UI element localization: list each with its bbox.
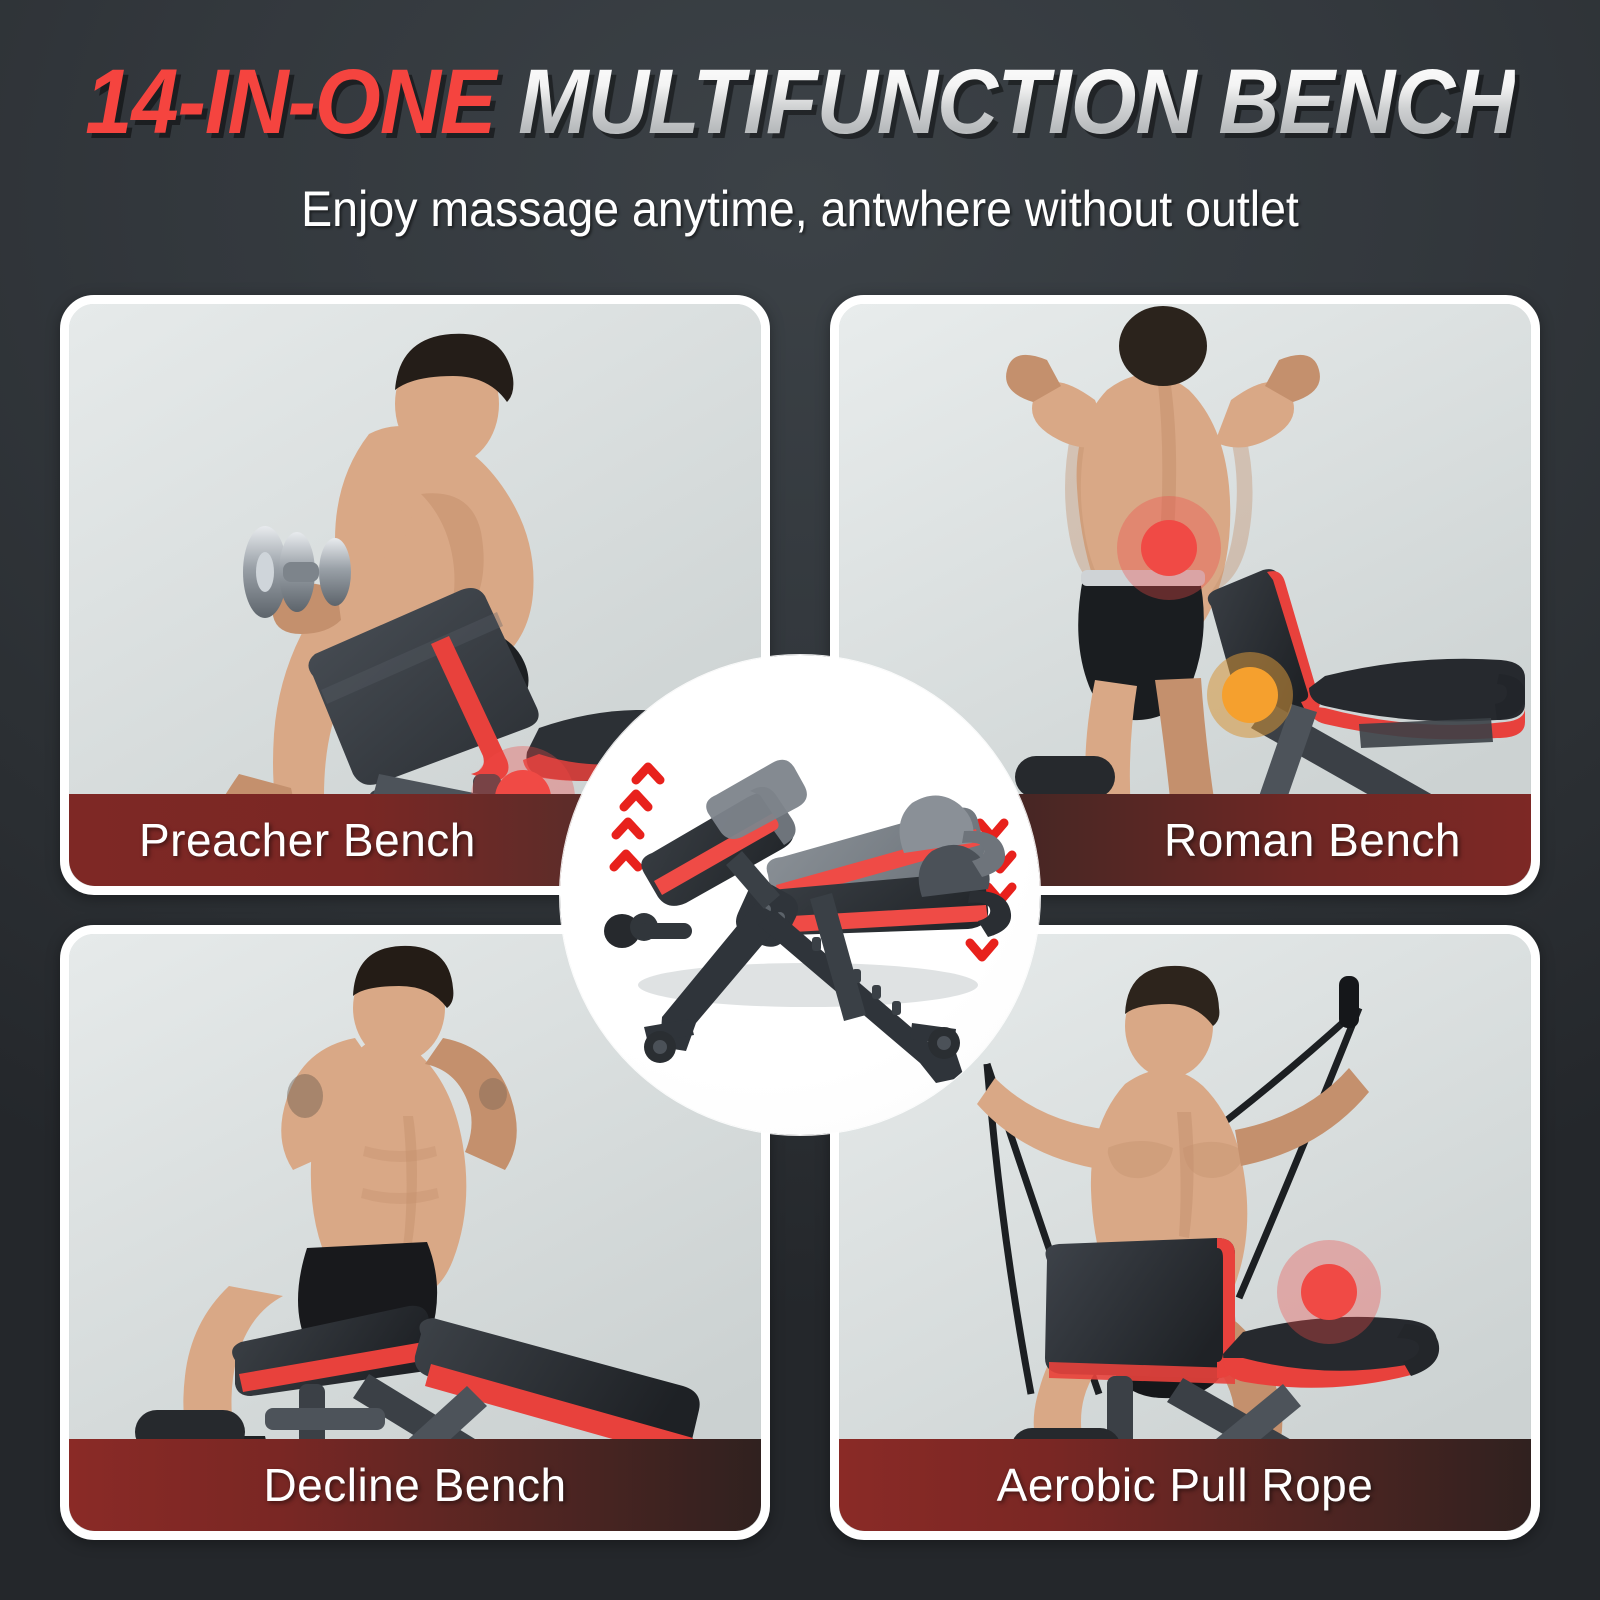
bench-flat-variant [767, 795, 1011, 937]
card-label-text: Roman Bench [1164, 813, 1461, 867]
poster-header: 14-IN-ONE MULTIFUNCTION BENCH Enjoy mass… [0, 0, 1600, 270]
product-poster: 14-IN-ONE MULTIFUNCTION BENCH Enjoy mass… [0, 0, 1600, 1600]
card-label-aerobic-pull-rope: Aerobic Pull Rope [839, 1439, 1531, 1531]
card-label-text: Preacher Bench [139, 813, 476, 867]
foam-roller [1015, 756, 1115, 798]
card-label-text: Aerobic Pull Rope [997, 1458, 1374, 1512]
card-label-decline-bench: Decline Bench [69, 1439, 761, 1531]
card-label-text: Decline Bench [263, 1458, 566, 1512]
illustration-adjustable-bench-hero [560, 655, 1040, 1135]
title-highlight: 14-IN-ONE [85, 51, 495, 153]
title-rest: MULTIFUNCTION BENCH [518, 51, 1515, 153]
page-title: 14-IN-ONE MULTIFUNCTION BENCH [64, 56, 1536, 148]
dumbbell-prop [243, 526, 351, 618]
muscle-marker-glute [1117, 496, 1221, 600]
muscle-marker-chest [1277, 1240, 1381, 1344]
chevron-up-group [614, 767, 660, 867]
hardware-marker-hinge [1207, 652, 1293, 738]
center-product-circle [560, 655, 1040, 1135]
page-subtitle: Enjoy massage anytime, antwhere without … [56, 180, 1544, 238]
rope-handle [1339, 976, 1359, 1028]
